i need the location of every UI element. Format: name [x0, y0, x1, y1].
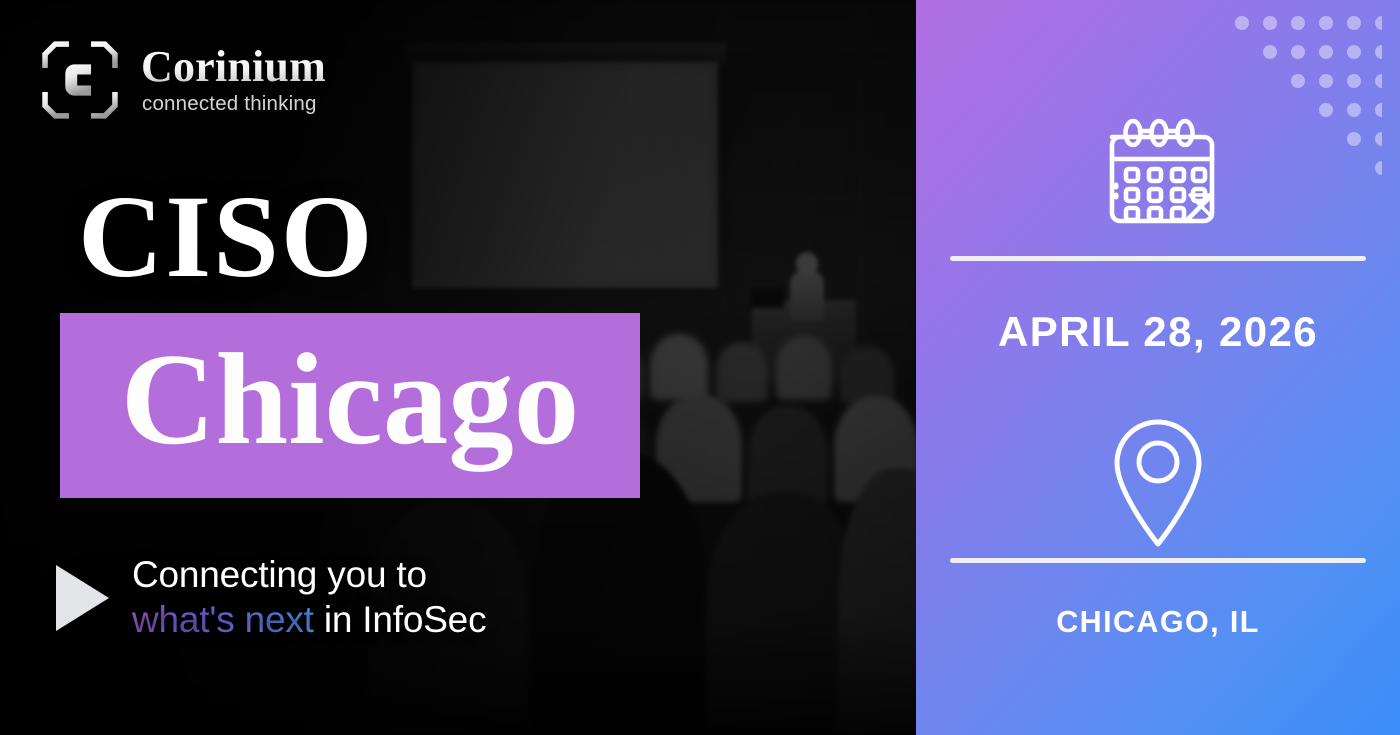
tagline-line-2-suffix: in InfoSec [314, 599, 487, 640]
headline-line-ciso: CISO [78, 178, 375, 296]
divider-above-date [950, 256, 1366, 261]
tagline-line-1: Connecting you to [132, 554, 427, 595]
corinium-bracket-c-logo-icon [33, 34, 127, 126]
play-triangle-icon [56, 565, 109, 631]
event-banner: Corinium connected thinking CISO Chicago… [0, 0, 1400, 735]
logo-brand-name: Corinium [141, 45, 326, 89]
tagline-block: Connecting you to what's next in InfoSec [56, 553, 486, 643]
divider-above-location [950, 558, 1366, 563]
calendar-icon-slot [1094, 100, 1222, 250]
headline-highlight-box: Chicago [60, 313, 640, 498]
event-location: CHICAGO, IL [1056, 605, 1259, 640]
event-date: APRIL 28, 2026 [998, 308, 1318, 356]
corinium-logo[interactable]: Corinium connected thinking [33, 34, 326, 126]
logo-brand-tagline: connected thinking [142, 94, 326, 115]
map-pin-icon [1106, 417, 1210, 551]
logo-wordmark: Corinium connected thinking [141, 45, 326, 115]
tagline-accent: what's next [132, 599, 314, 640]
tagline-text: Connecting you to what's next in InfoSec [132, 553, 486, 643]
headline-line-city: Chicago [60, 313, 640, 498]
conference-photo-backdrop: Corinium connected thinking CISO Chicago… [0, 0, 916, 735]
calendar-icon [1094, 111, 1222, 239]
logo-letter-c [65, 64, 91, 95]
event-info-panel: APRIL 28, 2026 CHICAGO, IL [916, 0, 1400, 735]
map-pin-icon-slot [1106, 410, 1210, 558]
info-stack: APRIL 28, 2026 CHICAGO, IL [916, 0, 1400, 735]
